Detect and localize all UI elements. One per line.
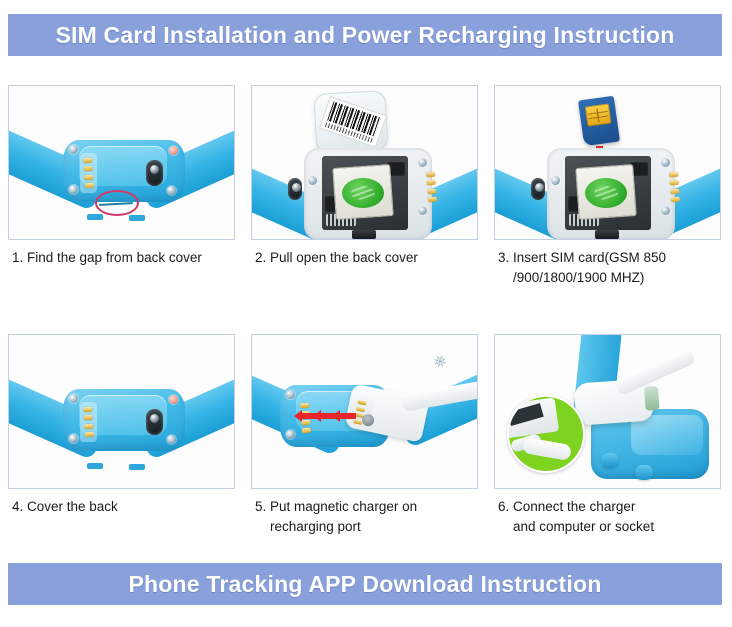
sensor-window-icon [146,409,163,435]
step-image-frame-2 [251,85,478,240]
inset-plug-icon [522,437,572,461]
step-caption-6-line1: 6. Connect the charger [498,499,635,514]
attach-direction-arrows-icon [302,413,356,419]
sensor-window-icon [288,178,302,200]
step-caption-4-line1: 4. Cover the back [12,499,118,514]
barcode-label-icon [319,96,387,148]
watch-case-open [547,148,675,240]
screw-icon [418,206,427,215]
screw-icon [69,394,78,403]
step-caption-6: 6. Connect the charger and computer or s… [494,489,721,541]
step-caption-2: 2. Pull open the back cover [251,240,478,292]
step-cell-5: ⎈ 5. Put magnetic charger on recharging … [251,334,478,541]
screw-icon [661,206,670,215]
screw-icon [308,176,317,185]
sim-chip-contact-icon [585,103,612,126]
step-image-frame-3 [494,85,721,240]
screw-icon [69,185,78,194]
usb-port-icon [595,230,619,239]
strap-foot [129,215,145,221]
screw-icon [551,176,560,185]
inset-device-icon [507,397,559,438]
charging-contacts-icon [426,172,437,203]
top-banner-title: SIM Card Installation and Power Rechargi… [8,14,722,56]
step-caption-1-line1: 1. Find the gap from back cover [12,250,202,265]
step-image-frame-4 [8,334,235,489]
screw-icon [69,145,78,154]
screw-icon [169,395,178,404]
screw-icon [167,435,176,444]
watch-case-open [304,148,432,240]
step-caption-2-line1: 2. Pull open the back cover [255,250,418,265]
back-cover-icon [313,90,388,154]
strap-foot [87,214,103,220]
step-cell-2: 2. Pull open the back cover [251,85,478,292]
screw-icon [418,158,427,167]
step-cell-1: 1. Find the gap from back cover [8,85,235,292]
step-cell-3: 3. Insert SIM card(GSM 850 /900/1800/190… [494,85,721,292]
step-image-frame-6 [494,334,721,489]
screw-icon [286,390,295,399]
watch-button-icon [601,453,619,468]
watch-back-closed-photo-4 [9,335,234,488]
step-caption-5: 5. Put magnetic charger on recharging po… [251,489,478,541]
step-caption-6-line2: and computer or socket [498,517,719,537]
usb-symbol-icon: ⎈ [431,351,451,373]
strap-foot [87,463,103,469]
green-sticker-icon [585,178,627,208]
screw-icon [169,146,178,155]
sim-insert-photo-3 [495,86,720,239]
inset-device-screen [507,403,544,426]
step-cell-6: 6. Connect the charger and computer or s… [494,334,721,541]
step-caption-5-line2: recharging port [255,517,476,537]
watch-case-back [63,389,185,451]
step-caption-1: 1. Find the gap from back cover [8,240,235,292]
step-image-frame-5: ⎈ [251,334,478,489]
charger-collar [644,386,660,411]
screw-icon [286,430,295,439]
screw-icon [661,158,670,167]
sim-card-icon [578,96,620,147]
charger-connected-photo-6 [495,335,720,488]
green-sticker-icon [342,178,384,208]
charger-screw-hole-icon [361,413,375,427]
magnetic-charger-icon [574,378,655,425]
steps-grid-row-1: 1. Find the gap from back cover [8,85,722,292]
watch-button-icon [635,465,653,480]
charging-contacts-icon [669,172,680,203]
strap-foot [129,464,145,470]
instruction-sheet: SIM Card Installation and Power Rechargi… [0,0,732,627]
screw-icon [69,434,78,443]
detail-inset-circle [507,395,585,473]
step-caption-4: 4. Cover the back [8,489,235,541]
step-caption-5-line1: 5. Put magnetic charger on [255,499,417,514]
sensor-window-icon [531,178,545,200]
step-image-frame-1 [8,85,235,240]
usb-port-icon [352,230,376,239]
step-caption-3-line2: /900/1800/1900 MHZ) [498,268,719,288]
magnetic-charger-photo-5: ⎈ [252,335,477,488]
watch-back-photo-1 [9,86,234,239]
screw-icon [167,186,176,195]
sensor-window-icon [146,160,163,186]
steps-grid-row-2: 4. Cover the back [8,325,722,541]
watch-opened-photo-2 [252,86,477,239]
step-cell-4: 4. Cover the back [8,334,235,541]
step-caption-3-line1: 3. Insert SIM card(GSM 850 [498,250,666,265]
step-caption-3: 3. Insert SIM card(GSM 850 /900/1800/190… [494,240,721,292]
bottom-banner-title: Phone Tracking APP Download Instruction [8,563,722,605]
gap-highlight-ellipse [95,190,139,216]
